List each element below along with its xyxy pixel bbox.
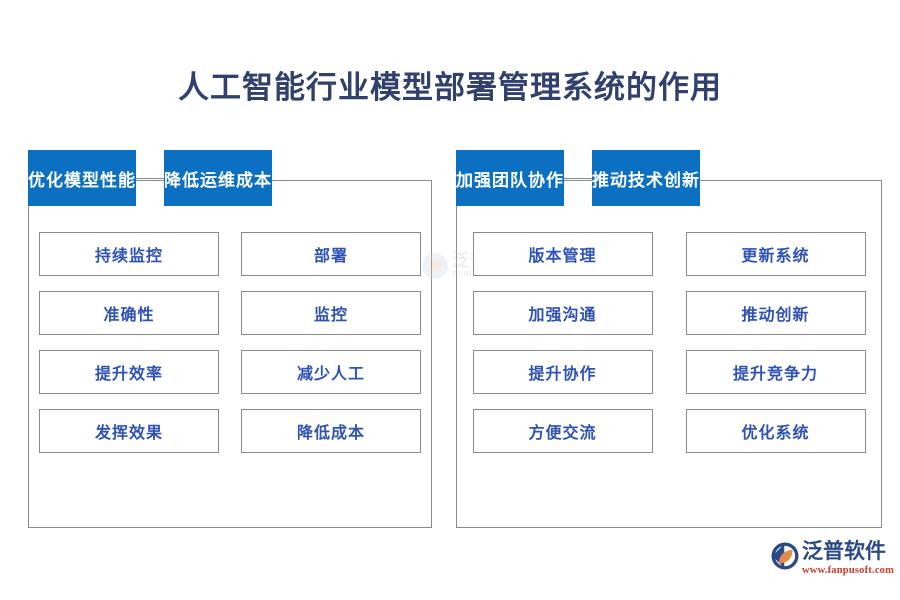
page-title: 人工智能行业模型部署管理系统的作用	[0, 68, 900, 108]
list-item[interactable]: 监控	[241, 291, 421, 335]
header-connector-line	[136, 150, 164, 206]
header-connector-line	[564, 150, 592, 206]
list-item[interactable]: 推动创新	[686, 291, 866, 335]
list-item[interactable]: 部署	[241, 232, 421, 276]
list-item[interactable]: 提升竞争力	[686, 350, 866, 394]
column-optimize-model-performance: 持续监控 准确性 提升效率 发挥效果	[28, 232, 230, 528]
brand-logo: 泛普软件 www.fanpusoft.com	[770, 540, 890, 586]
group-right-columns: 版本管理 加强沟通 提升协作 方便交流 更新系统 推动创新 提升竞争力 优化系统	[456, 206, 882, 528]
list-item[interactable]: 提升协作	[473, 350, 653, 394]
brand-text: 泛普软件 www.fanpusoft.com	[802, 540, 894, 577]
list-item[interactable]: 版本管理	[473, 232, 653, 276]
list-item[interactable]: 减少人工	[241, 350, 421, 394]
list-item[interactable]: 加强沟通	[473, 291, 653, 335]
group-left-columns: 持续监控 准确性 提升效率 发挥效果 部署 监控 减少人工 降低成本	[28, 206, 432, 528]
list-item[interactable]: 提升效率	[39, 350, 219, 394]
group-header-optimize-model-performance[interactable]: 优化模型性能	[28, 150, 136, 206]
group-right-headers: 加强团队协作 推动技术创新	[456, 150, 882, 206]
group-right: 加强团队协作 推动技术创新 版本管理 加强沟通 提升协作 方便交流 更新系统 推…	[456, 150, 882, 528]
column-drive-tech-innovation: 更新系统 推动创新 提升竞争力 优化系统	[669, 232, 882, 528]
brand-name: 泛普软件	[802, 540, 894, 564]
list-item[interactable]: 发挥效果	[39, 409, 219, 453]
list-item[interactable]: 方便交流	[473, 409, 653, 453]
brand-url: www.fanpusoft.com	[802, 564, 894, 577]
group-header-drive-tech-innovation[interactable]: 推动技术创新	[592, 150, 700, 206]
list-item[interactable]: 准确性	[39, 291, 219, 335]
diagram-canvas: 人工智能行业模型部署管理系统的作用 优化模型性能 降低运维成本 持续监控 准确性…	[0, 0, 900, 600]
group-header-reduce-ops-cost[interactable]: 降低运维成本	[164, 150, 272, 206]
group-left-headers: 优化模型性能 降低运维成本	[28, 150, 432, 206]
list-item[interactable]: 降低成本	[241, 409, 421, 453]
list-item[interactable]: 更新系统	[686, 232, 866, 276]
fanpu-logo-icon	[770, 541, 800, 571]
column-strengthen-team-collaboration: 版本管理 加强沟通 提升协作 方便交流	[456, 232, 669, 528]
group-left: 优化模型性能 降低运维成本 持续监控 准确性 提升效率 发挥效果 部署 监控 减…	[28, 150, 432, 528]
column-reduce-ops-cost: 部署 监控 减少人工 降低成本	[230, 232, 432, 528]
list-item[interactable]: 优化系统	[686, 409, 866, 453]
list-item[interactable]: 持续监控	[39, 232, 219, 276]
group-header-strengthen-team-collaboration[interactable]: 加强团队协作	[456, 150, 564, 206]
